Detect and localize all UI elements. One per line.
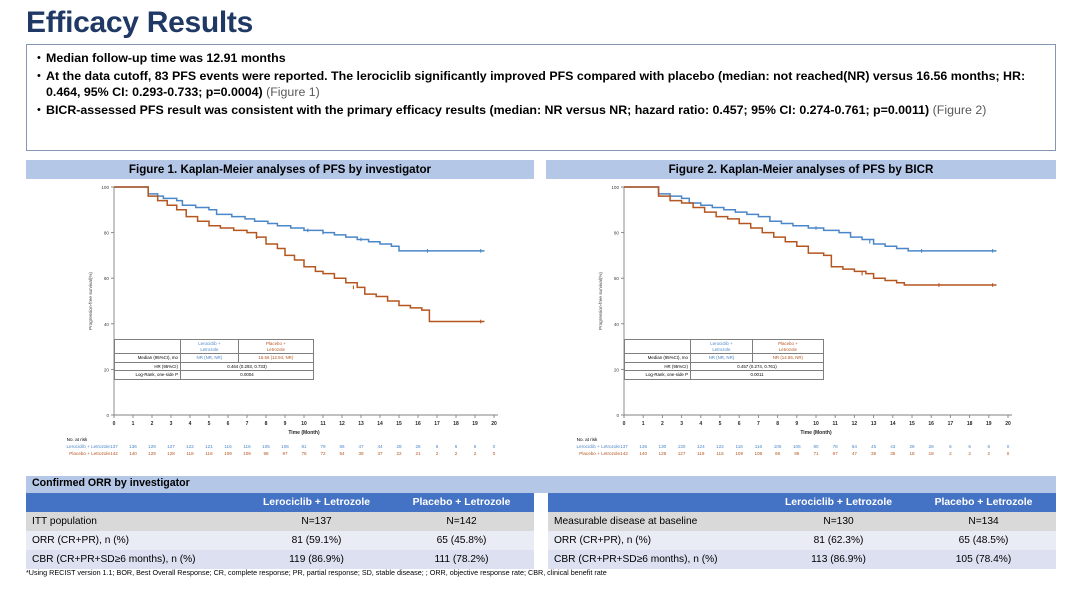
cell-cbr-lerociclib: 119 (86.9%)	[244, 550, 389, 569]
inset-col-header-placebo: Placebo +Letrozole	[752, 340, 823, 354]
svg-text:100: 100	[611, 185, 619, 190]
bullet-dot-icon: •	[35, 102, 46, 118]
svg-text:7: 7	[246, 421, 249, 427]
inset-logrank-value: 0.0011	[691, 371, 824, 380]
svg-text:40: 40	[614, 322, 620, 327]
risk-arm-label: Lerociclib + Letrozole	[38, 444, 110, 449]
svg-text:18: 18	[453, 421, 459, 427]
inset-col-header-lerociclib: Lerociclib +Letrozole	[691, 340, 753, 354]
risk-table-title: No. at risk	[550, 437, 624, 442]
svg-text:60: 60	[104, 276, 110, 281]
risk-value: 116	[732, 444, 746, 449]
table-row: HR (95%CI) 0.457 (0.274, 0.761)	[625, 362, 824, 371]
inset-hr-value: 0.464 (0.293, 0.733)	[181, 362, 314, 371]
risk-value: 6	[430, 444, 444, 449]
inset-row-label-hr: HR (95%CI)	[115, 362, 181, 371]
row-label-cbr: CBR (CR+PR+SD≥6 months), n (%)	[548, 550, 766, 569]
table-row: Lerociclib +Letrozole Placebo +Letrozole	[115, 340, 314, 354]
svg-text:5: 5	[719, 421, 722, 427]
svg-text:60: 60	[614, 276, 620, 281]
col-header-lerociclib: Lerociclib + Letrozole	[766, 493, 911, 512]
confirmed-orr-label: Confirmed ORR by investigator	[32, 477, 190, 489]
svg-text:10: 10	[813, 421, 819, 427]
col-header-blank	[548, 493, 766, 512]
risk-value: 6	[449, 444, 463, 449]
svg-text:18: 18	[967, 421, 973, 427]
risk-value: 128	[655, 451, 669, 456]
risk-value: 22	[392, 451, 406, 456]
inset-col-header-placebo: Placebo +Letrozole	[238, 340, 313, 354]
risk-value: 98	[259, 451, 273, 456]
svg-text:9: 9	[795, 421, 798, 427]
bullet-text: Median follow-up time was 12.91 months	[46, 50, 286, 67]
col-header-placebo: Placebo + Letrozole	[911, 493, 1056, 512]
cell-orr-placebo: 65 (48.5%)	[911, 531, 1056, 550]
svg-text:20: 20	[1005, 421, 1011, 427]
inset-median-placebo: 16.56 (12.94, NR)	[238, 354, 313, 363]
risk-arm-label: Placebo + Letrozole	[38, 451, 110, 456]
svg-text:0: 0	[623, 421, 626, 427]
cell-measurable-placebo: N=134	[911, 512, 1056, 531]
cell-orr-placebo: 65 (45.8%)	[389, 531, 534, 550]
risk-value: 6	[468, 444, 482, 449]
svg-text:13: 13	[871, 421, 877, 427]
risk-value: 116	[240, 444, 254, 449]
risk-value: 71	[809, 451, 823, 456]
bullet-dot-icon: •	[35, 68, 46, 84]
inset-row-label-logrank: Log-Rank, one-side P	[115, 371, 181, 380]
inset-median-placebo: NR (14.65, NR)	[752, 354, 823, 363]
col-header-placebo: Placebo + Letrozole	[389, 493, 534, 512]
svg-text:17: 17	[948, 421, 954, 427]
summary-bullet-box: • Median follow-up time was 12.91 months…	[26, 44, 1056, 151]
list-item: • BICR-assessed PFS result was consisten…	[35, 102, 1047, 119]
risk-value: 109	[240, 451, 254, 456]
risk-table-title: No. at risk	[40, 437, 114, 442]
risk-value: 105	[259, 444, 273, 449]
svg-text:40: 40	[104, 322, 110, 327]
risk-value: 127	[675, 451, 689, 456]
kaplan-meier-chart-2: 020406080100Progression-free survival(%)…	[546, 179, 1056, 473]
risk-value: 6	[943, 444, 957, 449]
svg-text:Progression-free survival(%): Progression-free survival(%)	[598, 272, 603, 330]
svg-text:80: 80	[104, 231, 110, 236]
row-label-measurable: Measurable disease at baseline	[548, 512, 766, 531]
risk-value: 108	[751, 451, 765, 456]
risk-value: 28	[924, 444, 938, 449]
table-row: Measurable disease at baseline N=130 N=1…	[548, 512, 1056, 531]
table-row: Median (95%CI), mo NR (NR, NR) NR (14.65…	[625, 354, 824, 363]
svg-text:6: 6	[227, 421, 230, 427]
risk-value: 35	[886, 451, 900, 456]
table-row: ORR (CR+PR), n (%) 81 (59.1%) 65 (45.8%)	[26, 531, 534, 550]
risk-value: 128	[164, 451, 178, 456]
svg-text:17: 17	[434, 421, 440, 427]
risk-value: 76	[297, 451, 311, 456]
table-row: ITT population N=137 N=142	[26, 512, 534, 531]
row-label-cbr: CBR (CR+PR+SD≥6 months), n (%)	[26, 550, 244, 569]
risk-value: 37	[373, 451, 387, 456]
row-label-orr: ORR (CR+PR), n (%)	[548, 531, 766, 550]
risk-value: 2	[468, 451, 482, 456]
svg-text:1: 1	[132, 421, 135, 427]
svg-text:100: 100	[101, 185, 109, 190]
risk-value: 105	[790, 444, 804, 449]
cell-orr-lerociclib: 81 (59.1%)	[244, 531, 389, 550]
svg-text:7: 7	[757, 421, 760, 427]
cell-cbr-lerociclib: 113 (86.9%)	[766, 550, 911, 569]
cell-cbr-placebo: 105 (78.4%)	[911, 550, 1056, 569]
risk-value: 137	[617, 444, 631, 449]
svg-text:16: 16	[928, 421, 934, 427]
risk-value: 43	[886, 444, 900, 449]
inset-hr-value: 0.457 (0.274, 0.761)	[691, 362, 824, 371]
bullet-text: BICR-assessed PFS result was consistent …	[46, 102, 986, 119]
risk-value: 118	[183, 451, 197, 456]
risk-value: 124	[694, 444, 708, 449]
inset-col-header-lerociclib: Lerociclib +Letrozole	[181, 340, 239, 354]
risk-arm-label: Lerociclib + Letrozole	[548, 444, 620, 449]
risk-value: 45	[867, 444, 881, 449]
svg-text:8: 8	[776, 421, 779, 427]
risk-value: 130	[675, 444, 689, 449]
svg-text:8: 8	[265, 421, 268, 427]
risk-value: 116	[751, 444, 765, 449]
risk-value: 127	[164, 444, 178, 449]
risk-value: 109	[221, 451, 235, 456]
kaplan-meier-chart-1: 020406080100Progression-free survival(%)…	[26, 179, 534, 473]
risk-value: 122	[713, 444, 727, 449]
svg-text:3: 3	[680, 421, 683, 427]
table-row: CBR (CR+PR+SD≥6 months), n (%) 119 (86.9…	[26, 550, 534, 569]
orr-investigator-table: Lerociclib + Letrozole Placebo + Letrozo…	[26, 493, 534, 569]
risk-value: 18	[924, 451, 938, 456]
svg-text:9: 9	[284, 421, 287, 427]
svg-text:13: 13	[358, 421, 364, 427]
figure-1-body: 020406080100Progression-free survival(%)…	[26, 179, 534, 473]
figure-panel-1: Figure 1. Kaplan-Meier analyses of PFS b…	[26, 160, 534, 473]
footnote: *Using RECIST version 1.1; BOR, Best Ove…	[26, 568, 1056, 577]
svg-text:3: 3	[170, 421, 173, 427]
svg-text:12: 12	[339, 421, 345, 427]
risk-value: 47	[354, 444, 368, 449]
figure-1-header: Figure 1. Kaplan-Meier analyses of PFS b…	[26, 160, 534, 179]
svg-text:20: 20	[104, 367, 110, 372]
risk-value: 116	[202, 451, 216, 456]
table-row: Median (95%CI), mo NR (NR, NR) 16.56 (12…	[115, 354, 314, 363]
risk-value: 130	[655, 444, 669, 449]
risk-value: 129	[145, 451, 159, 456]
inset-logrank-value: 0.0004	[181, 371, 314, 380]
figure-2-body: 020406080100Progression-free survival(%)…	[546, 179, 1056, 473]
svg-text:19: 19	[472, 421, 478, 427]
svg-text:Time (Month): Time (Month)	[288, 430, 320, 436]
svg-text:6: 6	[738, 421, 741, 427]
risk-value: 44	[373, 444, 387, 449]
risk-value: 95	[790, 451, 804, 456]
risk-value: 66	[335, 444, 349, 449]
inset-corner-cell	[115, 340, 181, 354]
inset-median-lerociclib: NR (NR, NR)	[181, 354, 239, 363]
row-label-itt: ITT population	[26, 512, 244, 531]
svg-text:20: 20	[491, 421, 497, 427]
risk-value: 21	[411, 451, 425, 456]
inset-row-label-median: Median (95%CI), mo	[115, 354, 181, 363]
risk-value: 140	[126, 451, 140, 456]
bullet-text: At the data cutoff, 83 PFS events were r…	[46, 68, 1047, 101]
table-row: Lerociclib +Letrozole Placebo +Letrozole	[625, 340, 824, 354]
svg-text:4: 4	[189, 421, 192, 427]
svg-text:2: 2	[661, 421, 664, 427]
svg-text:11: 11	[833, 421, 839, 427]
svg-text:10: 10	[301, 421, 307, 427]
bullet-dot-icon: •	[35, 50, 46, 66]
inset-row-label-logrank: Log-Rank, one-side P	[625, 371, 691, 380]
risk-value: 6	[982, 444, 996, 449]
svg-text:12: 12	[852, 421, 858, 427]
table-row: ORR (CR+PR), n (%) 81 (62.3%) 65 (48.5%)	[548, 531, 1056, 550]
figure-2-stats-table: Lerociclib +Letrozole Placebo +Letrozole…	[624, 339, 824, 380]
svg-text:0: 0	[106, 413, 109, 418]
risk-value: 2	[943, 451, 957, 456]
risk-value: 0	[1001, 444, 1015, 449]
risk-value: 2	[449, 451, 463, 456]
figure-reference: (Figure 2)	[933, 103, 987, 117]
table-row: Log-Rank, one-side P 0.0004	[115, 371, 314, 380]
table-header-row: Lerociclib + Letrozole Placebo + Letrozo…	[548, 493, 1056, 512]
list-item: • At the data cutoff, 83 PFS events were…	[35, 68, 1047, 101]
risk-value: 136	[636, 444, 650, 449]
svg-text:Time (Month): Time (Month)	[800, 430, 832, 436]
svg-text:15: 15	[396, 421, 402, 427]
risk-value: 39	[354, 451, 368, 456]
svg-text:80: 80	[614, 231, 620, 236]
table-row: Log-Rank, one-side P 0.0011	[625, 371, 824, 380]
risk-value: 142	[617, 451, 631, 456]
row-label-orr: ORR (CR+PR), n (%)	[26, 531, 244, 550]
inset-row-label-hr: HR (95%CI)	[625, 362, 691, 371]
risk-value: 96	[771, 451, 785, 456]
risk-value: 64	[847, 444, 861, 449]
table-row: CBR (CR+PR+SD≥6 months), n (%) 113 (86.9…	[548, 550, 1056, 569]
risk-value: 2	[982, 451, 996, 456]
risk-value: 78	[828, 444, 842, 449]
svg-text:11: 11	[320, 421, 326, 427]
cell-measurable-lerociclib: N=130	[766, 512, 911, 531]
risk-value: 67	[828, 451, 842, 456]
risk-value: 116	[221, 444, 235, 449]
figure-reference: (Figure 1)	[266, 85, 320, 99]
col-header-lerociclib: Lerociclib + Letrozole	[244, 493, 389, 512]
figure-panel-2: Figure 2. Kaplan-Meier analyses of PFS b…	[546, 160, 1056, 473]
risk-value: 0	[1001, 451, 1015, 456]
svg-text:2: 2	[151, 421, 154, 427]
risk-value: 137	[107, 444, 121, 449]
risk-value: 0	[487, 451, 501, 456]
risk-value: 121	[202, 444, 216, 449]
svg-text:0: 0	[113, 421, 116, 427]
inset-median-lerociclib: NR (NR, NR)	[691, 354, 753, 363]
risk-value: 81	[297, 444, 311, 449]
svg-text:14: 14	[890, 421, 896, 427]
figure-2-header: Figure 2. Kaplan-Meier analyses of PFS b…	[546, 160, 1056, 179]
figure-1-stats-table: Lerociclib +Letrozole Placebo +Letrozole…	[114, 339, 314, 380]
risk-value: 6	[963, 444, 977, 449]
risk-value: 28	[411, 444, 425, 449]
risk-value: 47	[847, 451, 861, 456]
risk-value: 109	[732, 451, 746, 456]
risk-value: 105	[278, 444, 292, 449]
risk-value: 0	[487, 444, 501, 449]
inset-row-label-median: Median (95%CI), mo	[625, 354, 691, 363]
risk-value: 36	[867, 451, 881, 456]
risk-value: 72	[316, 451, 330, 456]
svg-text:Progression-free survival(%): Progression-free survival(%)	[88, 272, 93, 330]
svg-text:4: 4	[699, 421, 702, 427]
cell-itt-placebo: N=142	[389, 512, 534, 531]
inset-corner-cell	[625, 340, 691, 354]
svg-text:0: 0	[616, 413, 619, 418]
svg-text:14: 14	[377, 421, 383, 427]
risk-value: 142	[107, 451, 121, 456]
confirmed-orr-band: Confirmed ORR by investigator	[26, 476, 1056, 493]
risk-value: 2	[430, 451, 444, 456]
svg-text:20: 20	[614, 367, 620, 372]
risk-value: 140	[636, 451, 650, 456]
cell-orr-lerociclib: 81 (62.3%)	[766, 531, 911, 550]
risk-value: 97	[278, 451, 292, 456]
list-item: • Median follow-up time was 12.91 months	[35, 50, 1047, 67]
svg-text:15: 15	[909, 421, 915, 427]
risk-value: 105	[771, 444, 785, 449]
svg-text:16: 16	[415, 421, 421, 427]
risk-value: 122	[183, 444, 197, 449]
col-header-blank	[26, 493, 244, 512]
risk-arm-label: Placebo + Letrozole	[548, 451, 620, 456]
orr-measurable-disease-table: Lerociclib + Letrozole Placebo + Letrozo…	[548, 493, 1056, 569]
table-row: HR (95%CI) 0.464 (0.293, 0.733)	[115, 362, 314, 371]
page-title: Efficacy Results	[26, 6, 253, 40]
risk-value: 136	[126, 444, 140, 449]
risk-value: 28	[392, 444, 406, 449]
risk-value: 129	[145, 444, 159, 449]
risk-value: 28	[905, 444, 919, 449]
risk-value: 2	[963, 451, 977, 456]
risk-value: 18	[905, 451, 919, 456]
risk-value: 119	[694, 451, 708, 456]
risk-value: 116	[713, 451, 727, 456]
svg-text:1: 1	[642, 421, 645, 427]
risk-value: 80	[809, 444, 823, 449]
cell-itt-lerociclib: N=137	[244, 512, 389, 531]
svg-text:19: 19	[986, 421, 992, 427]
risk-value: 54	[335, 451, 349, 456]
cell-cbr-placebo: 111 (78.2%)	[389, 550, 534, 569]
svg-text:5: 5	[208, 421, 211, 427]
risk-value: 79	[316, 444, 330, 449]
table-header-row: Lerociclib + Letrozole Placebo + Letrozo…	[26, 493, 534, 512]
